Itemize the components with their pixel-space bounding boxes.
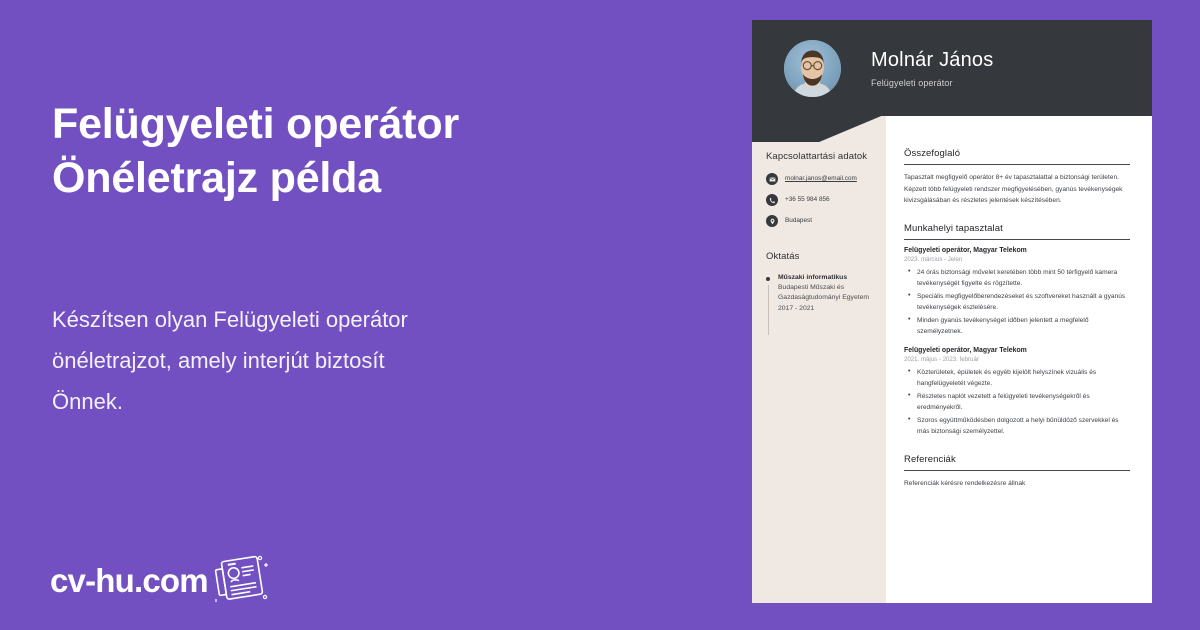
brand-logo[interactable]: cv-hu.com	[50, 552, 270, 609]
education-details: Műszaki informatikus Budapesti Műszaki é…	[778, 273, 874, 335]
resume-header-text: Molnár János Felügyeleti operátor	[871, 49, 993, 88]
summary-text: Tapasztalt megfigyelő operátor 8+ év tap…	[904, 172, 1130, 207]
job-bullet: Részletes naplót vezetett a felügyeleti …	[904, 391, 1130, 414]
experience-heading: Munkahelyi tapasztalat	[904, 223, 1130, 240]
promo-panel: Felügyeleti operátor Önéletrajz példa Ké…	[0, 0, 750, 630]
job-dates: 2021. május - 2023. február	[904, 356, 1130, 363]
envelope-icon	[766, 173, 778, 185]
contact-phone: +36 55 984 856	[785, 196, 830, 204]
education-dates: 2017 - 2021	[778, 304, 874, 315]
education-timeline	[766, 273, 770, 335]
job-title: Felügyeleti operátor, Magyar Telekom	[904, 247, 1130, 254]
summary-heading: Összefoglaló	[904, 148, 1130, 165]
references-text: Referenciák kérésre rendelkezésre állnak	[904, 478, 1130, 490]
job-dates: 2023. március - Jelen	[904, 256, 1130, 263]
job-bullet: 24 órás biztonsági művelet keretében töb…	[904, 267, 1130, 290]
job-bullet: Speciális megfigyelőberendezéseket és sz…	[904, 291, 1130, 314]
resume-name: Molnár János	[871, 49, 993, 72]
education-school: Budapesti Műszaki és Gazdaságtudományi E…	[778, 283, 874, 304]
education-degree: Műszaki informatikus	[778, 273, 874, 283]
resume-document-icon	[212, 552, 270, 609]
job-bullet: Közterületek, épületek és egyéb kijelölt…	[904, 367, 1130, 390]
education-item: Műszaki informatikus Budapesti Műszaki é…	[766, 273, 874, 335]
location-pin-icon	[766, 215, 778, 227]
contact-item-phone: +36 55 984 856	[766, 194, 874, 206]
summary-section: Összefoglaló Tapasztalt megfigyelő operá…	[904, 148, 1130, 207]
job-bullet: Minden gyanús tevékenységet időben jelen…	[904, 315, 1130, 338]
job-bullets: Közterületek, épületek és egyéb kijelölt…	[904, 367, 1130, 438]
references-heading: Referenciák	[904, 454, 1130, 471]
resume-preview-card[interactable]: Molnár János Felügyeleti operátor Kapcso…	[752, 20, 1152, 603]
avatar	[784, 40, 841, 97]
experience-item: Felügyeleti operátor, Magyar Telekom 202…	[904, 247, 1130, 338]
experience-section: Munkahelyi tapasztalat Felügyeleti operá…	[904, 223, 1130, 438]
promo-subtitle: Készítsen olyan Felügyeleti operátor öné…	[52, 299, 432, 422]
contact-location: Budapest	[785, 217, 812, 225]
resume-body: Kapcsolattartási adatok molnar.janos@ema…	[752, 116, 1152, 603]
phone-icon	[766, 194, 778, 206]
references-section: Referenciák Referenciák kérésre rendelke…	[904, 454, 1130, 490]
page-title: Felügyeleti operátor Önéletrajz példa	[52, 97, 652, 205]
contact-email[interactable]: molnar.janos@email.com	[785, 175, 857, 183]
job-bullets: 24 órás biztonsági művelet keretében töb…	[904, 267, 1130, 338]
resume-sidebar: Kapcsolattartási adatok molnar.janos@ema…	[752, 116, 886, 603]
brand-name: cv-hu.com	[50, 562, 208, 600]
experience-item: Felügyeleti operátor, Magyar Telekom 202…	[904, 347, 1130, 438]
promo-banner: Felügyeleti operátor Önéletrajz példa Ké…	[0, 0, 1200, 630]
job-bullet: Szoros együttműködésben dolgozott a hely…	[904, 415, 1130, 438]
resume-main-column: Összefoglaló Tapasztalt megfigyelő operá…	[886, 116, 1152, 603]
contact-heading: Kapcsolattartási adatok	[766, 151, 874, 162]
contact-item-location: Budapest	[766, 215, 874, 227]
timeline-dot-icon	[766, 277, 770, 281]
timeline-line	[768, 285, 769, 335]
resume-role: Felügyeleti operátor	[871, 78, 993, 88]
job-title: Felügyeleti operátor, Magyar Telekom	[904, 347, 1130, 354]
education-heading: Oktatás	[766, 251, 874, 262]
resume-header: Molnár János Felügyeleti operátor	[752, 20, 1152, 116]
contact-item-email[interactable]: molnar.janos@email.com	[766, 173, 874, 185]
